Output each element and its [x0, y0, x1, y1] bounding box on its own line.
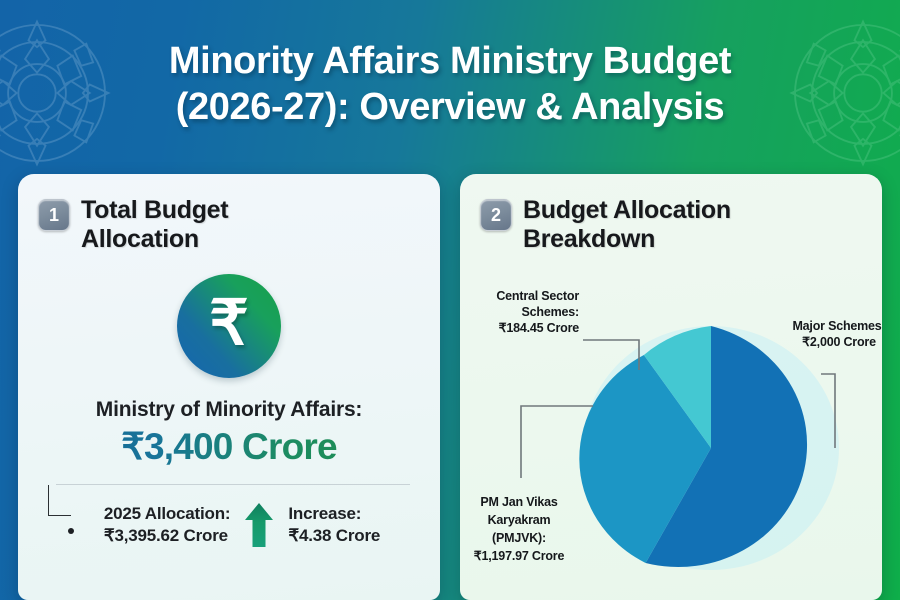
card-title-line2: Allocation [81, 225, 228, 254]
increase-value: ₹4.38 Crore [288, 525, 380, 547]
badge-number-2: 2 [480, 199, 512, 231]
label-line: ₹1,197.97 Crore [474, 549, 565, 563]
increase-label: Increase: [288, 503, 380, 525]
increase-block: Increase: ₹4.38 Crore [288, 503, 380, 547]
label-line: Central Sector [496, 289, 579, 303]
card-total-budget-allocation: 1 Total Budget Allocation ₹ Ministry of … [18, 174, 440, 600]
label-line: ₹184.45 Crore [499, 321, 580, 335]
connector-line [48, 485, 71, 516]
page-title-line1: Minority Affairs Ministry Budget [169, 38, 731, 84]
page-title-line2: (2026-27): Overview & Analysis [176, 84, 724, 130]
stats-row: 2025 Allocation: ₹3,395.62 Crore [38, 501, 420, 549]
up-arrow-icon [244, 501, 274, 549]
rupee-symbol: ₹ [209, 293, 248, 355]
pie-label-central-sector-schemes: Central Sector Schemes: ₹184.45 Crore [496, 289, 579, 335]
previous-allocation: 2025 Allocation: ₹3,395.62 Crore [104, 503, 231, 547]
label-line: Karyakram [488, 513, 551, 527]
previous-allocation-value: ₹3,395.62 Crore [104, 525, 231, 547]
card-header: 2 Budget Allocation Breakdown [480, 196, 862, 254]
total-budget-amount: ₹3,400 Crore [38, 425, 420, 468]
label-line: Schemes: [522, 305, 579, 319]
card-title: Budget Allocation Breakdown [523, 196, 731, 254]
infographic-page: Minority Affairs Ministry Budget (2026-2… [0, 0, 900, 600]
card-title-line2: Breakdown [523, 225, 731, 254]
pie-chart: Central Sector Schemes: ₹184.45 Crore Ma… [460, 278, 882, 600]
label-line: PM Jan Vikas [480, 495, 558, 509]
card-title: Total Budget Allocation [81, 196, 228, 254]
card-budget-allocation-breakdown: 2 Budget Allocation Breakdown [460, 174, 882, 600]
label-line: (PMJVK): [492, 531, 546, 545]
card-header: 1 Total Budget Allocation [38, 196, 420, 254]
page-header: Minority Affairs Ministry Budget (2026-2… [0, 0, 900, 168]
rupee-circle-icon: ₹ [177, 274, 281, 378]
ministry-label: Ministry of Minority Affairs: [38, 398, 420, 422]
card-title-line1: Budget Allocation [523, 196, 731, 225]
pie-label-pmjvk: PM Jan Vikas Karyakram (PMJVK): ₹1,197.9… [474, 495, 565, 563]
rupee-icon-wrap: ₹ [38, 274, 420, 378]
bullet-dot [68, 528, 74, 534]
cards-container: 1 Total Budget Allocation ₹ Ministry of … [0, 174, 900, 600]
previous-allocation-label: 2025 Allocation: [104, 503, 231, 525]
pie-label-major-schemes: Major Schemes: ₹2,000 Crore [792, 319, 882, 349]
badge-number-1: 1 [38, 199, 70, 231]
label-line: ₹2,000 Crore [802, 335, 876, 349]
divider [56, 484, 410, 485]
card-title-line1: Total Budget [81, 196, 228, 225]
pie-chart-area: Central Sector Schemes: ₹184.45 Crore Ma… [460, 278, 882, 600]
label-line: Major Schemes: [792, 319, 882, 333]
